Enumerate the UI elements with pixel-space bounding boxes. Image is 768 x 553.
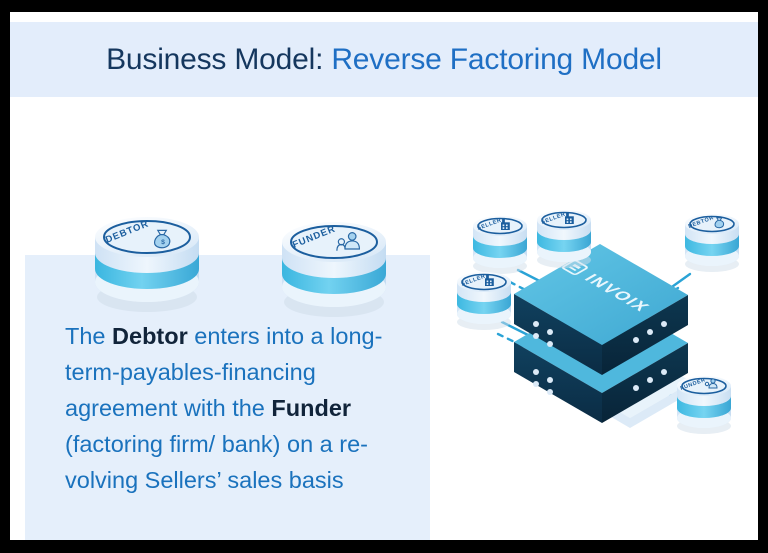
- desc-emphasis-debtor: Debtor: [112, 323, 188, 349]
- desc-line3-a: agreement with the: [65, 395, 271, 421]
- slide-artboard: Business Model: Reverse Factoring Model …: [10, 12, 758, 540]
- desc-line4: (factoring firm/ bank) on a re-: [65, 431, 368, 457]
- desc-line5: volving Sellers’ sales basis: [65, 467, 344, 493]
- desc-line1-a: The: [65, 323, 112, 349]
- desc-emphasis-funder: Funder: [271, 395, 351, 421]
- page-title-prefix: Business Model:: [106, 43, 323, 76]
- description-text: The Debtor enters into a long-term-payab…: [65, 318, 420, 498]
- node-cylinder-funder: FUNDER: [677, 376, 731, 434]
- node-cylinder-seller-2: SELLER: [537, 210, 591, 268]
- slide-header-band: Business Model: Reverse Factoring Model: [10, 22, 758, 97]
- page-title: Business Model: Reverse Factoring Model: [106, 43, 662, 77]
- network-diagram: INVOIX: [440, 182, 758, 447]
- node-cylinder-seller-3: SELLER: [457, 272, 511, 330]
- svg-text:$: $: [161, 239, 165, 246]
- node-cylinder-debtor: DEBTOR: [685, 214, 739, 272]
- node-cylinder-seller-1: SELLER: [473, 216, 527, 274]
- desc-line1-c: enters into a: [188, 323, 324, 349]
- slide-root: Business Model: Reverse Factoring Model …: [0, 0, 768, 553]
- actor-cylinder-debtor: $ DEBTOR: [85, 197, 205, 315]
- page-title-highlight: Reverse Factoring Model: [323, 43, 662, 76]
- actor-cylinder-funder: FUNDER: [272, 202, 392, 320]
